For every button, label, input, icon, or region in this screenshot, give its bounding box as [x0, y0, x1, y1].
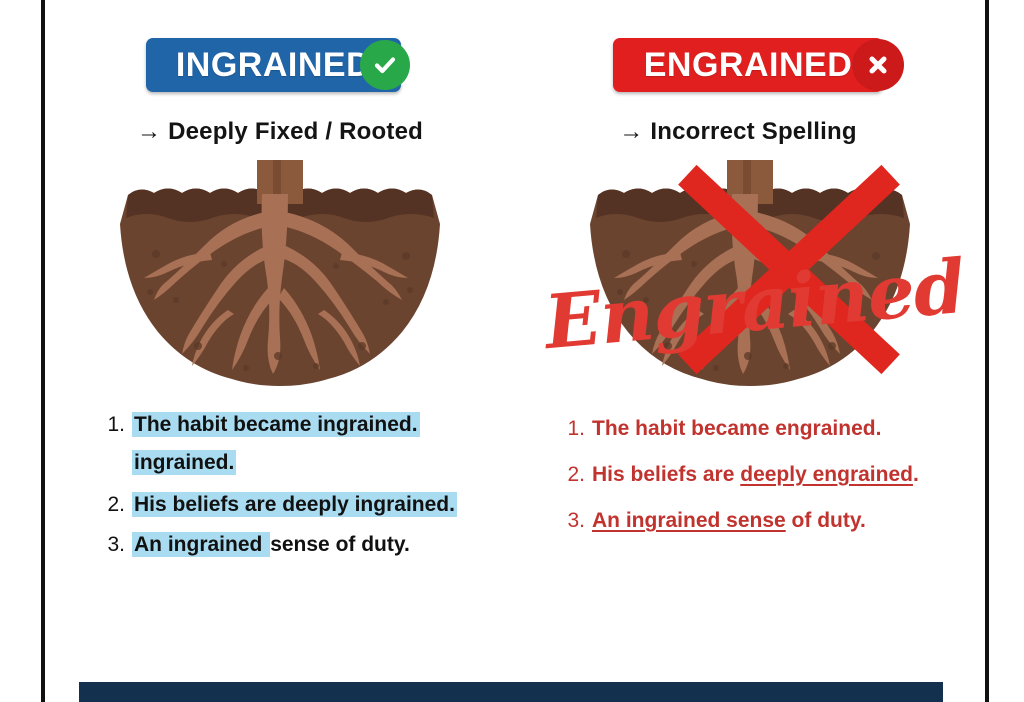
list-item-number: 2. — [553, 460, 585, 490]
list-item: 3. An ingrained sense of duty. — [553, 506, 983, 536]
list-item: 2. His beliefs are deeply ingrained. — [93, 490, 523, 520]
list-item-text: The habit became engrained. — [592, 414, 881, 444]
list-item-text: ingrained. — [132, 448, 236, 478]
x-circle-icon — [852, 39, 904, 91]
list-item-text: An ingrained sense of duty. — [132, 530, 410, 560]
list-item-number: 3. — [93, 530, 125, 560]
subtitle-incorrect-spelling: → Incorrect Spelling — [503, 118, 973, 146]
badge-row-correct: INGRAINED — [45, 38, 515, 96]
bottom-navy-band — [79, 682, 943, 702]
illustration-roots-correct — [45, 160, 515, 400]
examples-list-correct: 1. The habit became ingrained. 1. ingrai… — [93, 410, 523, 570]
list-item-text: His beliefs are deeply ingrained. — [132, 490, 457, 520]
list-item-number: 3. — [553, 506, 585, 536]
list-item-number: 2. — [93, 490, 125, 520]
list-item-text: His beliefs are deeply engrained. — [592, 460, 919, 490]
list-item: 1. The habit became engrained. — [553, 414, 983, 444]
column-ingrained-correct: INGRAINED → Deeply Fixed / Rooted — [45, 0, 515, 660]
list-item: 1. The habit became ingrained. — [93, 410, 523, 440]
column-engrained-incorrect: ENGRAINED → Incorrect Spelling — [515, 0, 985, 660]
illustration-roots-incorrect: Engrained — [515, 160, 985, 400]
badge-engrained-label: ENGRAINED — [644, 48, 853, 82]
page-right-border-rule — [985, 0, 989, 702]
check-circle-icon — [360, 40, 410, 90]
list-item-text: The habit became ingrained. — [132, 410, 420, 440]
list-item: 3. An ingrained sense of duty. — [93, 530, 523, 560]
subtitle-deeply-fixed-rooted: → Deeply Fixed / Rooted — [45, 118, 515, 146]
list-item-number: 1. — [93, 410, 125, 440]
page-canvas: INGRAINED → Deeply Fixed / Rooted — [0, 0, 1024, 702]
list-item-text: An ingrained sense of duty. — [592, 506, 866, 536]
comparison-columns: INGRAINED → Deeply Fixed / Rooted — [45, 0, 985, 660]
badge-engrained: ENGRAINED — [613, 38, 883, 92]
list-item: 2. His beliefs are deeply engrained. — [553, 460, 983, 490]
list-item-number: 1. — [553, 414, 585, 444]
list-item: 1. ingrained. — [93, 448, 523, 478]
badge-ingrained-label: INGRAINED — [176, 48, 371, 82]
examples-list-incorrect: 1. The habit became engrained. 2. His be… — [553, 414, 983, 552]
badge-row-incorrect: ENGRAINED — [515, 38, 985, 96]
